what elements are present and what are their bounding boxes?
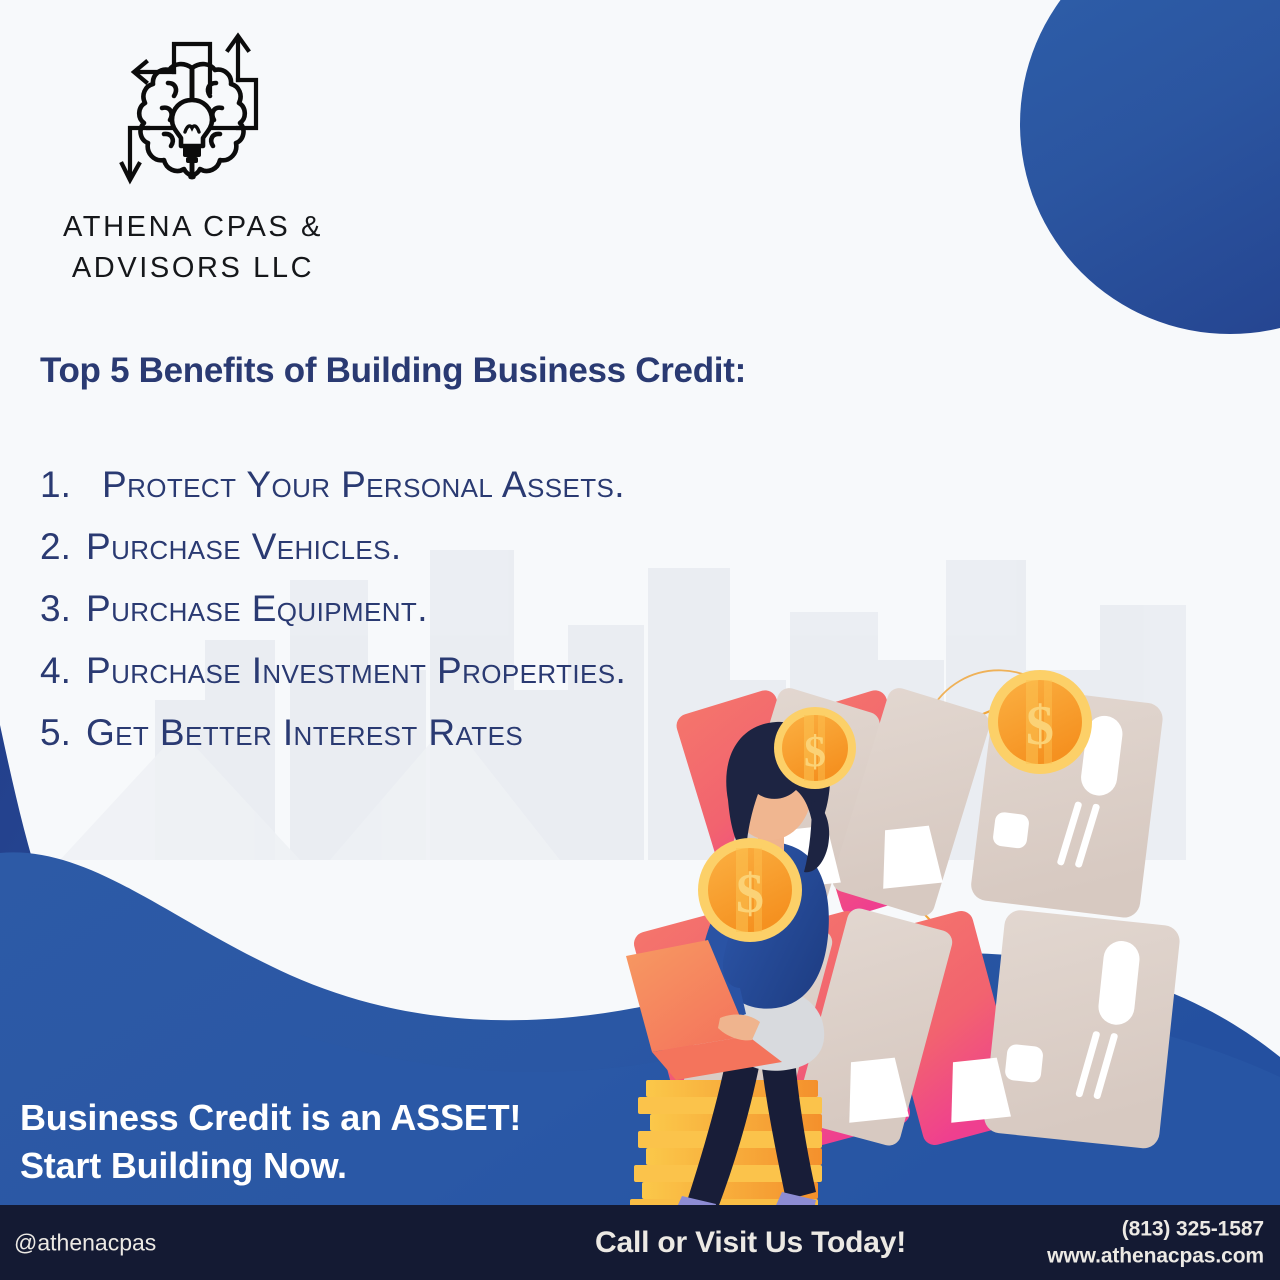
footer-bar: @athenacpas Call or Visit Us Today! (813… [0,1205,1280,1280]
list-item-number: 2. [40,528,86,565]
brand-name: ATHENA CPAS & ADVISORS LLC [28,207,358,289]
list-item: 1. Protect Your Personal Assets. [40,466,860,528]
brand-logo: ATHENA CPAS & ADVISORS LLC [28,28,358,289]
top-right-blue-circle [1020,0,1280,334]
list-item-label: Purchase Equipment. [86,590,428,627]
cta-line-1: Business Credit is an ASSET! [20,1094,521,1142]
footer-call-to-action: Call or Visit Us Today! [595,1226,906,1260]
dollar-coin: $ [698,838,802,942]
list-item-number: 3. [40,590,86,627]
dollar-coin: $ [988,670,1092,774]
list-item-label: Purchase Vehicles. [86,528,402,565]
website-url[interactable]: www.athenacpas.com [1047,1243,1264,1271]
brand-name-line-1: ATHENA CPAS & [28,207,358,248]
phone-number[interactable]: (813) 325-1587 [1047,1215,1264,1243]
list-item-label: Purchase Investment Properties. [86,652,626,689]
poster-canvas: ATHENA CPAS & ADVISORS LLC Top 5 Benefit… [0,0,1280,1280]
coin-dollar-symbol: $ [736,863,764,925]
cta-text: Business Credit is an ASSET! Start Build… [20,1094,521,1190]
business-credit-illustration: $ $ $ [600,600,1280,1225]
list-item-number: 4. [40,652,86,689]
social-handle[interactable]: @athenacpas [14,1229,156,1256]
dollar-coin: $ [774,707,856,789]
page-title: Top 5 Benefits of Building Business Cred… [40,351,746,391]
list-item: 2. Purchase Vehicles. [40,528,860,590]
list-item-number: 1. [40,466,102,503]
brain-lightbulb-arrows-icon [118,28,268,193]
coin-dollar-symbol: $ [804,727,826,776]
cta-line-2: Start Building Now. [20,1142,521,1190]
list-item-label: Protect Your Personal Assets. [102,466,625,503]
footer-contact-info: (813) 325-1587 www.athenacpas.com [1047,1215,1264,1270]
brand-name-line-2: ADVISORS LLC [28,248,358,289]
coin-dollar-symbol: $ [1026,695,1054,757]
